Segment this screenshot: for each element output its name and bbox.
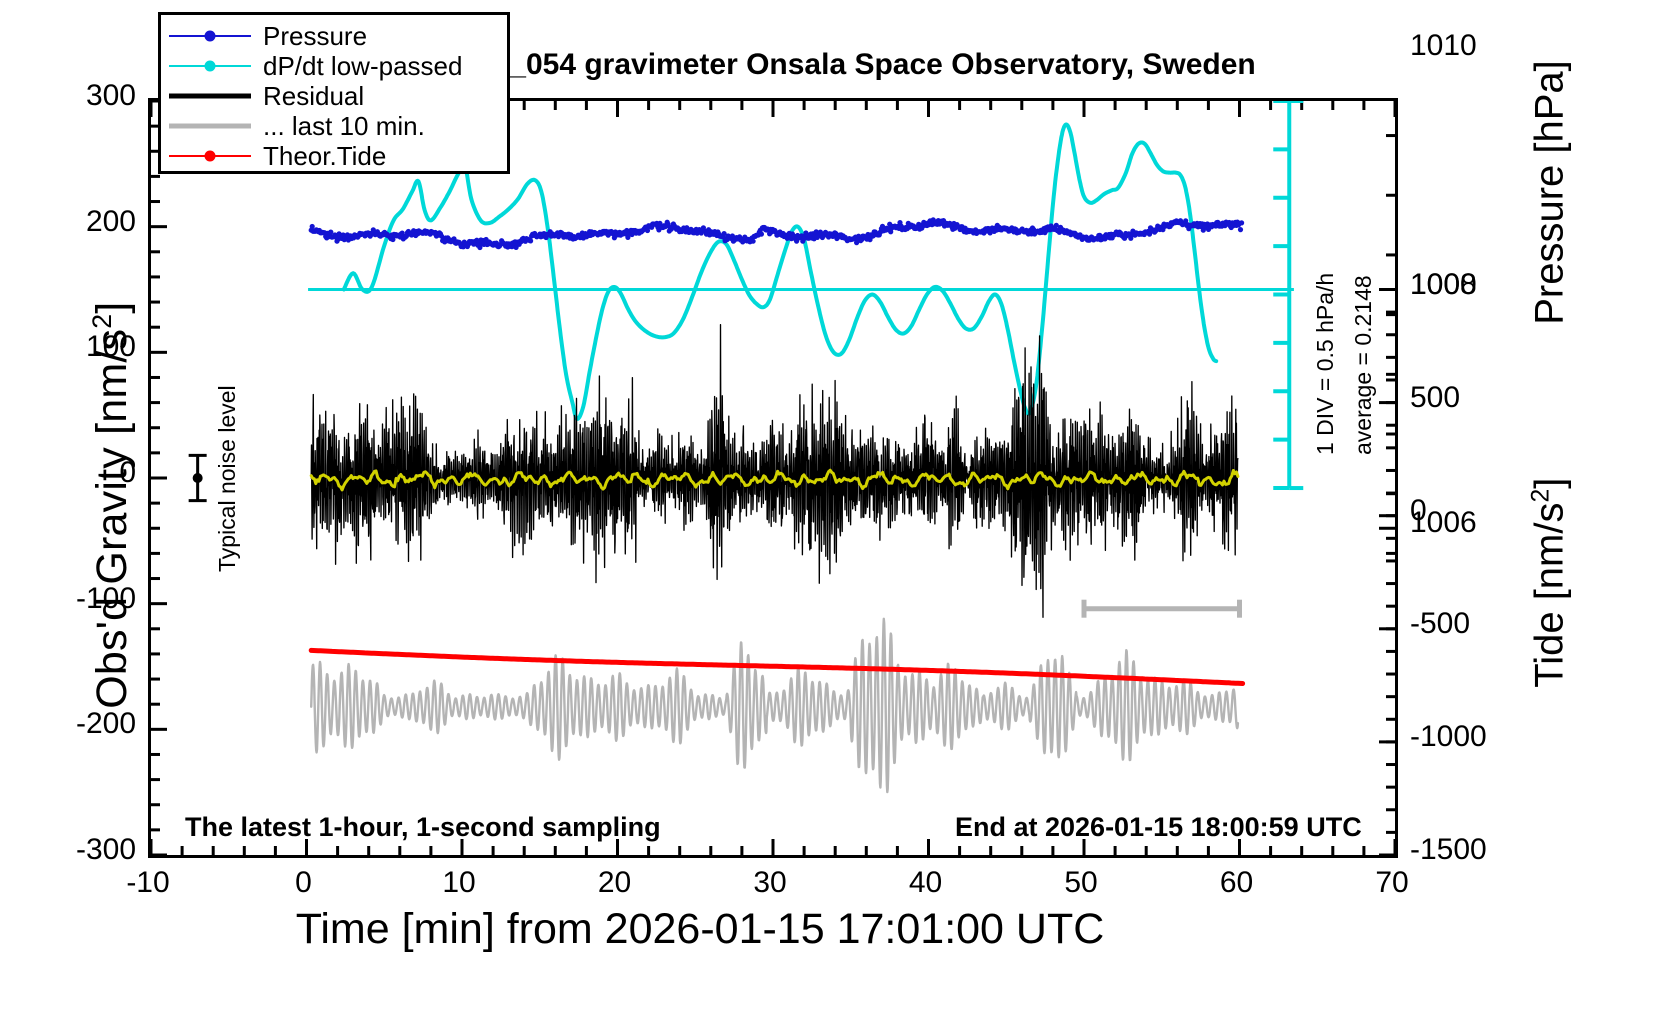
legend-marker-dot	[205, 151, 216, 162]
pressure-tick-label-1010: 1010	[1410, 29, 1477, 63]
legend-line	[169, 94, 251, 99]
y-axis-title-left: Obs'd Gravity [nm/s2]	[87, 225, 137, 785]
tide-tick-label--1500: -1500	[1410, 833, 1487, 867]
x-tick-label-40: 40	[866, 866, 986, 900]
legend-item-label: Pressure	[263, 21, 367, 52]
y-tick-label-left--300: -300	[26, 833, 136, 867]
typical-noise-level-marker	[189, 455, 207, 500]
footer-end-time: End at 2026-01-15 18:00:59 UTC	[955, 812, 1362, 843]
tide-tick-label-0: 0	[1410, 494, 1427, 528]
x-tick-label-30: 30	[710, 866, 830, 900]
x-tick-label--10: -10	[88, 866, 208, 900]
chart-canvas: Obs'd Gravity [nm/s2] Pressure [hPa] Tid…	[0, 0, 1660, 1020]
legend-swatch-icon	[169, 54, 251, 78]
tide-tick-label-1000: 1000	[1410, 268, 1477, 302]
x-axis-title: Time [min] from 2026-01-15 17:01:00 UTC	[0, 905, 1400, 954]
y-axis-title-left-text: Obs'd Gravity [nm/s	[88, 329, 136, 709]
dpdt-scale-bar	[1273, 101, 1303, 488]
last-10-min-extent-bar	[1084, 600, 1240, 618]
plot-svg	[151, 101, 1395, 855]
div-scale-label: 1 DIV = 0.5 hPa/h	[1312, 273, 1339, 455]
legend-item-last-10-min[interactable]: ... last 10 min.	[169, 111, 507, 141]
tide-tick-label--1000: -1000	[1410, 720, 1487, 754]
legend-marker-dot	[205, 31, 216, 42]
y-tick-label-left-200: 200	[26, 205, 136, 239]
legend-item-label: dP/dt low-passed	[263, 51, 462, 82]
y-axis-title-left-tail: ]	[88, 302, 136, 314]
legend: PressuredP/dt low-passedResidual... last…	[158, 12, 510, 174]
y-tick-label-left-300: 300	[26, 79, 136, 113]
legend-swatch-icon	[169, 144, 251, 168]
legend-item-label: ... last 10 min.	[263, 111, 425, 142]
y-axis-title-tide-sup: 2	[1527, 489, 1554, 503]
x-tick-label-70: 70	[1332, 866, 1452, 900]
plot-area	[148, 98, 1398, 858]
y-axis-title-left-sup: 2	[87, 314, 117, 329]
legend-item-residual[interactable]: Residual	[169, 81, 507, 111]
x-tick-label-0: 0	[244, 866, 364, 900]
legend-item-pressure[interactable]: Pressure	[169, 21, 507, 51]
series-pressure	[309, 217, 1245, 250]
legend-swatch-icon	[169, 24, 251, 48]
legend-item-label: Theor.Tide	[263, 141, 386, 172]
y-tick-label-left--200: -200	[26, 707, 136, 741]
y-axis-title-tide-tail: ]	[1528, 478, 1572, 489]
legend-swatch-icon	[169, 84, 251, 108]
legend-swatch-icon	[169, 114, 251, 138]
footer-sampling-note: The latest 1-hour, 1-second sampling	[185, 812, 661, 843]
x-tick-label-20: 20	[555, 866, 675, 900]
x-tick-label-50: 50	[1021, 866, 1141, 900]
legend-item-label: Residual	[263, 81, 364, 112]
y-tick-label-left-0: 0	[26, 456, 136, 490]
typical-noise-level-label: Typical noise level	[214, 385, 241, 572]
series-residual	[311, 325, 1238, 618]
legend-item-theor-tide[interactable]: Theor.Tide	[169, 141, 507, 171]
y-axis-title-tide: Tide [nm/s2]	[1527, 423, 1572, 743]
y-axis-title-pressure: Pressure [hPa]	[1528, 33, 1573, 353]
tide-tick-label-500: 500	[1410, 381, 1460, 415]
y-tick-label-left--100: -100	[26, 582, 136, 616]
legend-line	[169, 124, 251, 129]
legend-marker-dot	[205, 61, 216, 72]
series-last-10-min	[311, 619, 1238, 792]
x-tick-label-10: 10	[399, 866, 519, 900]
legend-item-dp-dt-low-passed[interactable]: dP/dt low-passed	[169, 51, 507, 81]
x-tick-label-60: 60	[1177, 866, 1297, 900]
tide-tick-label--500: -500	[1410, 607, 1470, 641]
series-theor-tide	[311, 650, 1242, 683]
y-tick-label-left-100: 100	[26, 330, 136, 364]
y-axis-title-tide-text: Tide [nm/s	[1528, 503, 1572, 688]
average-label: average = 0.2148	[1350, 275, 1377, 455]
